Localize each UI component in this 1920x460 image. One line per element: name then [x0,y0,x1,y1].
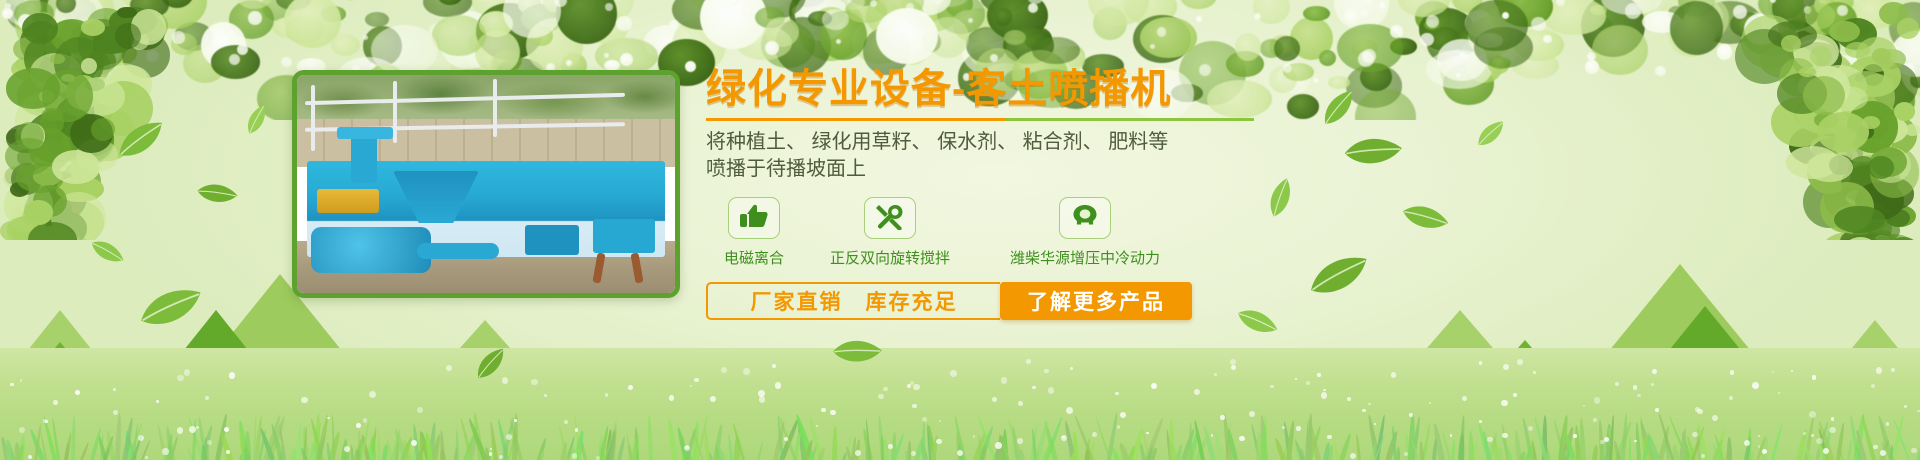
grass-blade [71,416,76,460]
grass-floret [1752,382,1759,389]
grass-floret [1487,437,1493,443]
feature-icon-box [864,197,916,239]
feature-item-engine: 潍柴华源增压中冷动力 [978,197,1192,268]
grass-floret [1812,375,1816,379]
grass-floret [1479,361,1483,365]
grass-floret [113,388,116,391]
grass-floret [913,384,919,390]
grass-floret [1604,437,1609,442]
grass-floret [75,390,80,395]
grass-floret [572,453,577,458]
grass-floret [1809,411,1816,418]
grass-blade [667,419,678,460]
grass-floret [502,377,508,383]
grass-floret [939,420,941,422]
grass-floret [1692,432,1698,438]
grass-floret [1044,369,1049,374]
grass-floret [1533,371,1536,374]
grass-floret [1762,449,1768,455]
grass-floret [113,410,118,415]
grass-floret [1001,377,1008,384]
grass-floret [1772,371,1774,373]
grass-floret [911,451,916,456]
grass-floret [1634,440,1637,443]
grass-floret [1362,409,1365,412]
grass-floret [145,456,148,459]
grass-floret [490,448,492,450]
grass-floret [19,427,26,434]
grass-ground [0,348,1920,460]
grass-floret [1829,427,1836,434]
grass-floret [743,368,750,375]
grass-floret [1744,440,1750,446]
feature-icon-box [728,197,780,239]
grass-floret [950,370,957,377]
grass-floret [821,408,826,413]
grass-blade [617,436,626,460]
banner-headline: 绿化专业设备-客土喷播机 [706,66,1286,112]
leaf-icon [194,175,240,213]
grass-floret [1891,368,1896,373]
grass-floret [1594,397,1600,403]
grass-floret [684,445,690,451]
grass-floret [1404,452,1408,456]
grass-floret [1655,408,1659,412]
grass-floret [1501,400,1507,406]
grass-floret [177,375,183,381]
grass-floret [1317,373,1321,377]
grass-blade [718,448,725,460]
grass-blade [1451,440,1455,460]
feature-label: 电磁离合 [706,247,802,268]
grass-blade [456,429,460,460]
grass-floret [1026,359,1031,364]
grass-floret [446,365,452,371]
grass-floret [1917,410,1920,413]
feature-item-clutch: 电磁离合 [706,197,802,268]
grass-floret [1429,402,1432,405]
grass-floret [1374,423,1376,425]
grass-floret [177,427,183,433]
left-foliage-edge [0,0,230,240]
grass-floret [936,439,941,444]
thumbs-up-icon [739,202,769,235]
grass-floret [196,426,199,429]
grass-floret [28,455,32,459]
grass-floret [816,425,819,428]
photo-machine-box [525,225,579,255]
grass-floret [1450,434,1452,436]
grass-floret [162,448,168,454]
grass-blade [1094,415,1110,460]
grass-floret [1462,396,1467,401]
grass-floret [1306,381,1310,385]
grass-blade [115,413,123,460]
grass-blade [1397,447,1400,460]
grass-floret [1296,426,1300,430]
grass-floret [1758,445,1761,448]
grass-floret [575,428,578,431]
grass-floret [531,379,538,386]
product-photo-image [297,75,675,293]
grass-blade [1355,434,1360,460]
grass-floret [995,442,1002,449]
grass-floret [489,452,493,456]
leaf-icon [137,286,206,330]
grass-floret [973,435,976,438]
grass-blade [647,415,653,460]
grass-floret [1503,364,1509,370]
grass-floret [1321,392,1327,398]
grass-floret [363,418,368,423]
grass-floret [1873,445,1878,450]
grass-floret [605,393,609,397]
grass-floret [45,420,48,423]
grass-floret [1823,448,1829,454]
grass-floret [1904,405,1907,408]
grass-floret [878,394,883,399]
grass-floret [1876,367,1882,373]
grass-floret [189,426,196,433]
grass-floret [1573,434,1577,438]
grass-floret [830,410,835,415]
photo-machine-cap [337,127,393,139]
grass-floret [922,417,927,422]
engine-gear-icon [1070,202,1100,235]
grass-floret [1239,436,1245,442]
headline-divider [706,118,1254,121]
grass-floret [1327,435,1332,440]
feature-list: 电磁离合 正反双向旋转搅拌 [706,197,1286,268]
grass-floret [1350,453,1356,459]
grass-floret [1712,415,1718,421]
grass-floret [184,369,191,376]
grass-floret [1194,389,1200,395]
grass-floret [1730,370,1735,375]
grass-floret [669,395,675,401]
grass-floret [694,378,698,382]
grass-floret [888,444,893,449]
grass-floret [1778,392,1780,394]
grass-floret [772,364,777,369]
grass-floret [344,446,350,452]
grass-floret [1791,370,1793,372]
grass-floret [1729,396,1733,400]
grass-floret [1347,397,1351,401]
grass-floret [564,420,567,423]
feature-label: 潍柴华源增压中冷动力 [978,247,1192,268]
grass-floret [1871,384,1875,388]
feature-item-mixing: 正反双向旋转搅拌 [802,197,978,268]
grass-floret [1811,434,1814,437]
grass-blade [1727,437,1733,460]
grass-floret [855,450,861,456]
feature-label: 正反双向旋转搅拌 [802,247,978,268]
grass-floret [1701,454,1705,458]
leaf-icon [111,118,170,163]
grass-floret [1270,385,1273,388]
photo-machine-pipe [417,243,499,259]
tools-wrench-screwdriver-icon [875,202,905,235]
grass-floret [1120,412,1127,419]
grass-floret [1528,426,1533,431]
grass-floret [1092,432,1097,437]
grass-floret [1032,386,1036,390]
grass-floret [775,382,781,388]
grass-floret [205,396,209,400]
grass-floret [628,385,633,390]
promo-banner: 绿化专业设备-客土喷播机 将种植土、 绿化用草籽、 保水剂、 粘合剂、 肥料等 … [0,0,1920,460]
grass-floret [1637,394,1640,397]
grass-floret [417,407,423,413]
grass-blade [1847,439,1853,460]
grass-floret [1368,403,1371,406]
grass-blade [1751,451,1755,460]
grass-floret [1911,448,1916,453]
grass-blade [1629,437,1631,460]
grass-floret [1018,401,1023,406]
leaf-icon [239,103,274,138]
grass-blade [1496,447,1502,460]
grass-floret [1048,387,1054,393]
grass-floret [596,456,600,460]
grass-blade [80,442,90,460]
grass-floret [1513,393,1517,397]
photo-machine-column [351,135,377,183]
grass-floret [907,384,911,388]
grass-floret [301,397,307,403]
right-foliage-edge [1690,0,1920,240]
photo-rail-post [393,81,397,143]
grass-floret [1695,407,1699,411]
grass-floret [1593,418,1597,422]
grass-blade [378,432,380,460]
grass-blade [1458,434,1465,460]
grass-floret [224,427,229,432]
grass-floret [1633,385,1638,390]
grass-blade [1891,416,1905,460]
grass-floret [1117,425,1121,429]
grass-floret [883,387,887,391]
grass-floret [10,383,13,386]
grass-floret [1651,383,1654,386]
grass-floret [327,417,330,420]
grass-floret [1211,434,1213,436]
grass-floret [1017,438,1023,444]
photo-machine-tank [317,189,379,213]
grass-blade [439,449,446,460]
grass-floret [1214,373,1217,376]
grass-blade [1771,424,1783,460]
photo-machine-box [593,219,655,253]
grass-floret [207,440,212,445]
grass-floret [356,423,361,428]
grass-floret [1295,378,1297,380]
grass-floret [957,450,963,456]
grass-floret [690,385,692,387]
grass-floret [53,400,58,405]
banner-subtitle-line-2: 喷播于待播坡面上 [706,156,1286,183]
cta-bar: 厂家直销 库存充足 了解更多产品 [706,282,1192,320]
grass-blade [1169,420,1174,460]
grass-blade [1916,431,1920,460]
grass-floret [1323,389,1325,391]
grass-floret [156,400,158,402]
grass-floret [1249,411,1255,417]
photo-rail-post [311,85,315,151]
grass-floret [1070,367,1073,370]
grass-floret [20,379,22,381]
product-photo [292,70,680,298]
grass-floret [1758,435,1760,437]
banner-content: 绿化专业设备-客土喷播机 将种植土、 绿化用草籽、 保水剂、 粘合剂、 肥料等 … [706,66,1286,320]
grass-floret [912,404,916,408]
grass-floret [1151,383,1157,389]
grass-floret [721,367,727,373]
grass-blade [200,445,206,460]
grass-floret [1146,432,1149,435]
grass-floret [1831,417,1834,420]
grass-floret [1115,392,1119,396]
grass-blade [922,420,925,460]
grass-floret [544,394,547,397]
grass-floret [1583,405,1585,407]
grass-floret [1886,422,1890,426]
grass-floret [759,396,765,402]
feature-icon-box [1059,197,1111,239]
grass-blade [675,427,688,460]
grass-floret [1517,359,1523,365]
grass-floret [1231,365,1237,371]
leaf-icon [1315,87,1363,130]
grass-blade [1592,445,1598,460]
grass-floret [1066,407,1073,414]
grass-floret [1230,359,1236,365]
grass-floret [1615,382,1619,386]
grass-floret [369,391,376,398]
grass-blade [757,441,764,460]
grass-blade [832,426,838,460]
grass-floret [1479,420,1482,423]
grass-floret [1816,438,1822,444]
grass-floret [1391,372,1396,377]
cta-slogan: 厂家直销 库存充足 [706,282,1000,320]
grass-floret [1502,433,1508,439]
grass-floret [138,435,144,441]
leaf-icon [1472,118,1511,149]
grass-blade [1261,425,1267,460]
grass-floret [229,372,235,378]
grass-floret [506,434,512,440]
grass-floret [710,396,716,402]
grass-blade [1214,430,1223,460]
grass-floret [1652,369,1657,374]
photo-machine-pump [311,227,431,273]
banner-subtitle-line-1: 将种植土、 绿化用草籽、 保水剂、 粘合剂、 肥料等 [706,129,1286,156]
learn-more-button[interactable]: 了解更多产品 [1000,282,1192,320]
grass-floret [1220,415,1225,420]
leaf-icon [1342,129,1405,174]
grass-floret [992,397,997,402]
